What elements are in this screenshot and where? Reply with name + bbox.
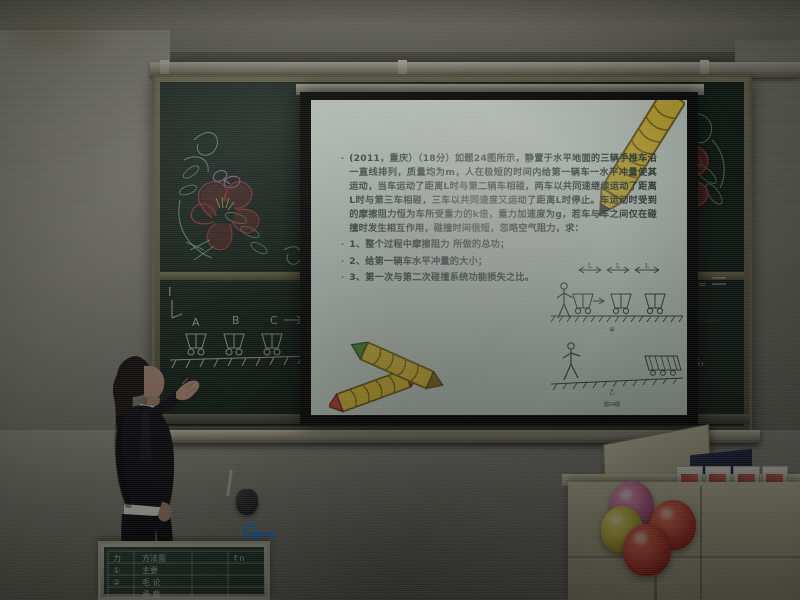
svg-text:C: C bbox=[270, 314, 278, 327]
svg-text:力: 力 bbox=[113, 553, 121, 563]
svg-text:方法面: 方法面 bbox=[142, 553, 166, 563]
bullet-marker: · bbox=[341, 271, 344, 285]
svg-text:I: I bbox=[168, 285, 172, 299]
ceiling-stain bbox=[8, 4, 118, 64]
svg-text:②: ② bbox=[113, 578, 120, 587]
figure-caption-bottom: 乙 bbox=[609, 389, 615, 396]
slide-physics-figure: L L L bbox=[549, 260, 687, 410]
svg-text:①: ① bbox=[113, 566, 120, 575]
slide-bullet-q1: · 1、整个过程中摩擦阻力 所做的总功； bbox=[341, 238, 657, 252]
chalk-flower-left-icon bbox=[164, 100, 314, 280]
bullet-marker: · bbox=[341, 255, 344, 269]
bullet-marker: · bbox=[341, 152, 344, 236]
projected-slide: · (2011，重庆）（18分）如题24图所示，静置于水平地面的三辆手推车沿一直… bbox=[311, 100, 687, 415]
svg-text:A: A bbox=[192, 316, 200, 329]
svg-text:毛 论: 毛 论 bbox=[142, 577, 161, 587]
bullet-marker: · bbox=[341, 238, 344, 252]
balloon-red-2 bbox=[623, 524, 671, 576]
svg-text:L: L bbox=[616, 263, 620, 270]
figure-caption-top: 甲 bbox=[609, 327, 615, 334]
figure-caption-source: 题24图 bbox=[604, 402, 620, 408]
svg-text:L: L bbox=[588, 263, 592, 270]
podium-drawer-seam bbox=[568, 556, 800, 558]
svg-text:B: B bbox=[232, 314, 240, 327]
slide-question-1: 1、整个过程中摩擦阻力 所做的总功； bbox=[349, 238, 657, 252]
slide-bullet-main: · (2011，重庆）（18分）如题24图所示，静置于水平地面的三辆手推车沿一直… bbox=[341, 152, 657, 236]
svg-text:承 载: 承 载 bbox=[142, 589, 161, 599]
wall-speaker-icon bbox=[236, 489, 258, 515]
svg-text:L: L bbox=[645, 263, 649, 270]
small-chalkboard: 力①② 方法面 主要 毛 论 承 载 f n bbox=[98, 541, 270, 600]
crayon-bottom-left-icon bbox=[329, 338, 447, 415]
cart-collision-figure-icon: L L L bbox=[549, 260, 687, 410]
small-chalkboard-surface: 力①② 方法面 主要 毛 论 承 载 f n bbox=[104, 547, 264, 594]
classroom-scene: 师 bbox=[0, 0, 800, 600]
svg-text:主要: 主要 bbox=[142, 565, 158, 575]
small-chalkboard-grid: 力①② 方法面 主要 毛 论 承 载 f n bbox=[104, 547, 270, 600]
podium-door-seam bbox=[700, 486, 702, 600]
slide-problem-statement: (2011，重庆）（18分）如题24图所示，静置于水平地面的三辆手推车沿一直线排… bbox=[349, 152, 657, 236]
svg-text:f n: f n bbox=[234, 554, 244, 563]
projector-screen: · (2011，重庆）（18分）如题24图所示，静置于水平地面的三辆手推车沿一直… bbox=[300, 92, 698, 424]
